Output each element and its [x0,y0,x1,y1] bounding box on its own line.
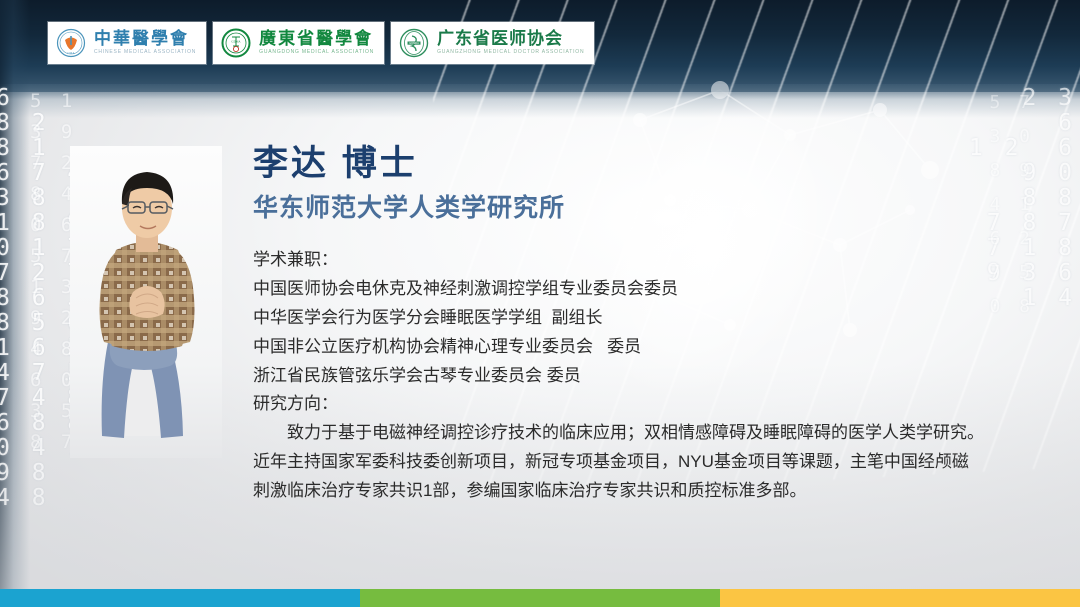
bottom-bar-blue-segment [0,589,360,607]
organization-logo-bar: CMA 中華醫學會 CHINESE MEDICAL ASSOCIATION GD… [48,22,594,64]
speaker-info-block: 李达 博士 华东师范大学人类学研究所 学术兼职： 中国医师协会电休克及神经刺激调… [253,142,1053,505]
appointments-label: 学术兼职： [253,246,1053,274]
logo-chinese-medical-association: CMA 中華醫學會 CHINESE MEDICAL ASSOCIATION [48,22,206,64]
bottom-color-bar [0,589,1080,607]
svg-text:CMA: CMA [67,51,75,55]
appointment-item-3: 中国非公立医疗机构协会精神心理专业委员会 委员 [253,332,1053,361]
bottom-bar-yellow-segment [720,589,1080,607]
gma-name-cn: 廣東省醫學會 [259,30,374,48]
cma-seal-icon: CMA [56,28,86,58]
gma-seal-icon: GDMA [221,28,251,58]
gmda-logo-text: 广东省医师协会 GUANGZHONG MEDICAL DOCTOR ASSOCI… [437,30,584,56]
appointment-item-4: 浙江省民族管弦乐学会古琴专业委员会 委员 [253,361,1053,390]
appointment-item-2: 中华医学会行为医学分会睡眠医学学组 副组长 [253,303,1053,332]
research-paragraph-3: 刺激临床治疗专家共识1部，参编国家临床治疗专家共识和质控标准多部。 [253,476,1053,505]
cma-logo-text: 中華醫學會 CHINESE MEDICAL ASSOCIATION [94,30,196,56]
cma-name-en: CHINESE MEDICAL ASSOCIATION [94,48,196,56]
logo-guangdong-medical-doctor-association: GDMDA 广东省医师协会 GUANGZHONG MEDICAL DOCTOR … [391,22,594,64]
logo-guangdong-medical-association: GDMA 廣東省醫學會 GUANGDONG MEDICAL ASSOCIATIO… [213,22,384,64]
gmda-name-en: GUANGZHONG MEDICAL DOCTOR ASSOCIATION [437,48,584,56]
gma-name-en: GUANGDONG MEDICAL ASSOCIATION [259,48,374,56]
research-label: 研究方向： [253,390,1053,418]
cma-name-cn: 中華醫學會 [94,30,196,48]
gmda-seal-icon: GDMDA [399,28,429,58]
svg-text:GDMA: GDMA [232,40,242,44]
svg-text:GDMDA: GDMDA [409,41,419,45]
gmda-name-cn: 广东省医师协会 [437,30,584,48]
presentation-slide: 6 8 2 8 1 6 7 4 3 8 7 1 8 9 0 1 7 7 2 7 … [0,0,1080,607]
bottom-bar-green-segment [360,589,721,607]
speaker-affiliation: 华东师范大学人类学研究所 [253,192,1053,224]
gma-logo-text: 廣東省醫學會 GUANGDONG MEDICAL ASSOCIATION [259,30,374,56]
research-paragraph-2: 近年主持国家军委科技委创新项目，新冠专项基金项目，NYU基金项目等课题，主笔中国… [253,447,1053,476]
speaker-name: 李达 博士 [253,142,1053,186]
research-paragraph-1: 致力于基于电磁神经调控诊疗技术的临床应用；双相情感障碍及睡眠障碍的医学人类学研究… [253,418,1053,447]
speaker-photo [70,146,222,458]
appointment-item-1: 中国医师协会电休克及神经刺激调控学组专业委员会委员 [253,274,1053,303]
